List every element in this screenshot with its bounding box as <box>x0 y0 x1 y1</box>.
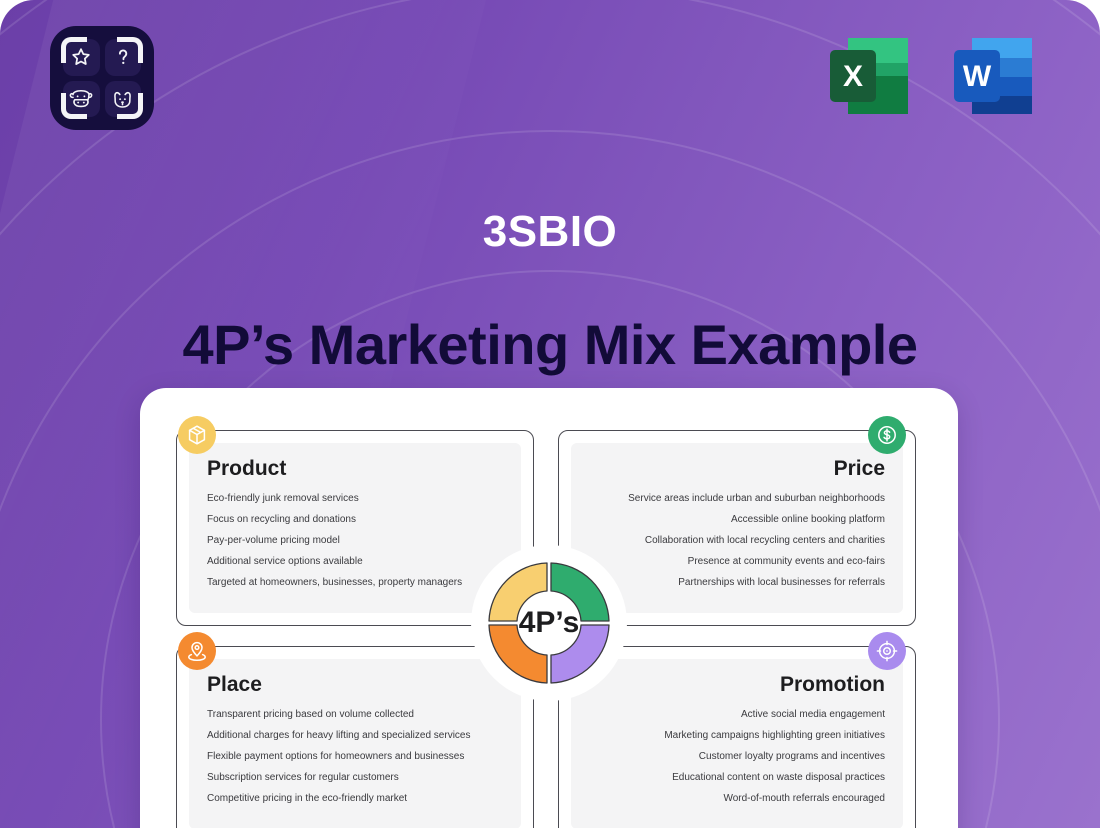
target-crosshair-icon <box>868 632 906 670</box>
list-item: Subscription services for regular custom… <box>207 772 503 785</box>
word-icon[interactable]: W <box>946 28 1042 124</box>
dollar-coin-icon <box>868 416 906 454</box>
list-item: Word-of-mouth referrals encouraged <box>589 793 885 806</box>
list-item: Flexible payment options for homeowners … <box>207 751 503 764</box>
slide-canvas: X W 3SBIO 4P’s Marketing Mix Example Pro… <box>0 0 1100 828</box>
list-item: Targeted at homeowners, businesses, prop… <box>207 577 503 590</box>
donut-chart: 4P’s <box>469 543 629 703</box>
list-item: Pay-per-volume pricing model <box>207 535 503 548</box>
list-item: Presence at community events and eco-fai… <box>589 556 885 569</box>
package-box-icon <box>178 416 216 454</box>
excel-icon[interactable]: X <box>822 28 918 124</box>
list-item: Service areas include urban and suburban… <box>589 493 885 506</box>
list-item: Focus on recycling and donations <box>207 514 503 527</box>
quadrant-list-promotion: Active social media engagement Marketing… <box>589 709 885 806</box>
list-item: Additional charges for heavy lifting and… <box>207 730 503 743</box>
list-item: Customer loyalty programs and incentives <box>589 751 885 764</box>
location-pin-icon <box>178 632 216 670</box>
quadrant-title-place: Place <box>207 673 503 697</box>
quadrant-title-product: Product <box>207 457 503 481</box>
page-title: 4P’s Marketing Mix Example <box>0 312 1100 377</box>
list-item: Eco-friendly junk removal services <box>207 493 503 506</box>
list-item: Partnerships with local businesses for r… <box>589 577 885 590</box>
logo-bracket-bottom-left <box>61 93 87 119</box>
company-name: 3SBIO <box>0 207 1100 257</box>
list-item: Educational content on waste disposal pr… <box>589 772 885 785</box>
quadrant-title-promotion: Promotion <box>589 673 885 697</box>
quadrant-title-price: Price <box>589 457 885 481</box>
quadrant-list-product: Eco-friendly junk removal services Focus… <box>207 493 503 590</box>
brand-logo[interactable] <box>50 26 154 130</box>
diagram-card: Product Eco-friendly junk removal servic… <box>140 388 958 828</box>
quadrant-list-price: Service areas include urban and suburban… <box>589 493 885 590</box>
logo-bracket-bottom-right <box>117 93 143 119</box>
list-item: Additional service options available <box>207 556 503 569</box>
svg-text:W: W <box>963 60 992 93</box>
list-item: Marketing campaigns highlighting green i… <box>589 730 885 743</box>
logo-bracket-top-right <box>117 37 143 63</box>
list-item: Accessible online booking platform <box>589 514 885 527</box>
svg-text:X: X <box>843 60 863 93</box>
quadrant-list-place: Transparent pricing based on volume coll… <box>207 709 503 806</box>
list-item: Competitive pricing in the eco-friendly … <box>207 793 503 806</box>
list-item: Collaboration with local recycling cente… <box>589 535 885 548</box>
logo-bracket-top-left <box>61 37 87 63</box>
list-item: Transparent pricing based on volume coll… <box>207 709 503 722</box>
list-item: Active social media engagement <box>589 709 885 722</box>
